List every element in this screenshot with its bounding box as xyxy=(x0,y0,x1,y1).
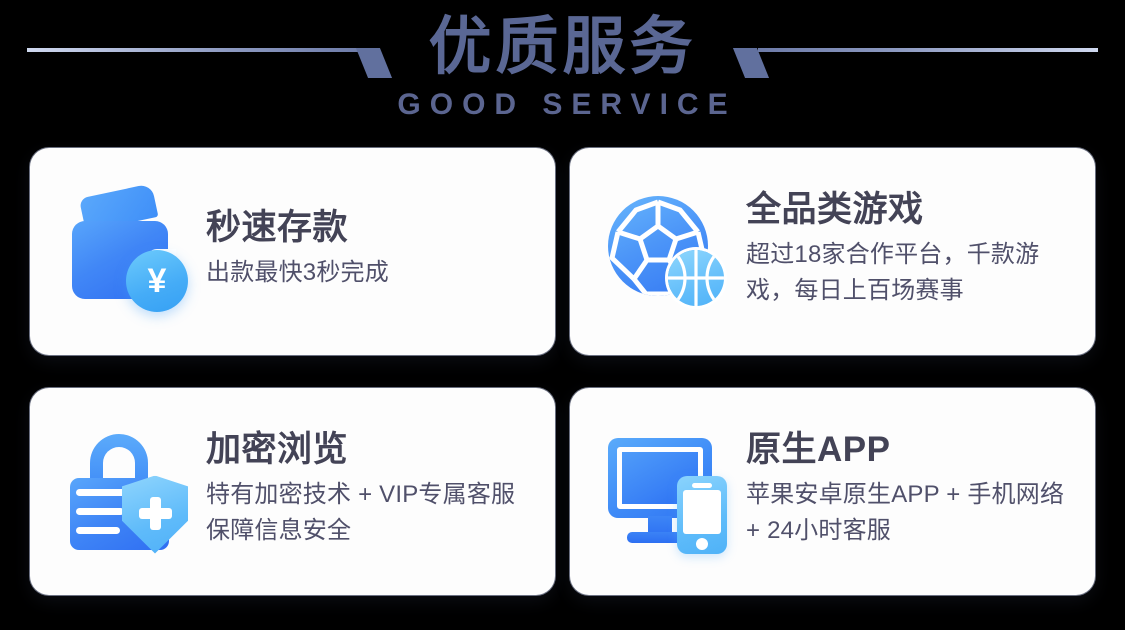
page-title: 优质服务 xyxy=(0,8,1125,86)
card-description: 苹果安卓原生APP + 手机网络 + 24小时客服 xyxy=(746,477,1069,549)
service-card-native-app[interactable]: 原生APP 苹果安卓原生APP + 手机网络 + 24小时客服 xyxy=(570,388,1095,595)
monitor-phone-icon xyxy=(604,428,732,556)
basketball-icon xyxy=(668,250,724,306)
service-card-all-category-games[interactable]: 全品类游戏 超过18家合作平台，千款游戏，每日上百场赛事 xyxy=(570,148,1095,355)
lock-slot-shape xyxy=(76,508,124,515)
phone-speaker-shape xyxy=(692,483,712,488)
basketball-seams-icon xyxy=(668,250,724,306)
header-title-block: 优质服务 GOOD SERVICE xyxy=(0,8,1125,122)
service-card-grid: ¥ 秒速存款 出款最快3秒完成 xyxy=(30,148,1095,595)
phone-home-button-shape xyxy=(696,538,708,550)
service-card-encrypted-browsing[interactable]: 加密浏览 特有加密技术 + VIP专属客服保障信息安全 xyxy=(30,388,555,595)
card-text-block: 全品类游戏 超过18家合作平台，千款游戏，每日上百场赛事 xyxy=(732,188,1069,315)
page-header: 优质服务 GOOD SERVICE xyxy=(0,0,1125,140)
card-description: 出款最快3秒完成 xyxy=(206,255,389,291)
service-card-instant-deposit[interactable]: ¥ 秒速存款 出款最快3秒完成 xyxy=(30,148,555,355)
card-text-block: 加密浏览 特有加密技术 + VIP专属客服保障信息安全 xyxy=(192,428,529,555)
card-text-block: 秒速存款 出款最快3秒完成 xyxy=(192,206,389,297)
shield-cross-icon xyxy=(139,508,172,519)
card-title: 秒速存款 xyxy=(206,206,389,250)
card-description: 超过18家合作平台，千款游戏，每日上百场赛事 xyxy=(746,237,1069,309)
card-description: 特有加密技术 + VIP专属客服保障信息安全 xyxy=(206,477,529,549)
card-title: 加密浏览 xyxy=(206,428,529,472)
card-text-block: 原生APP 苹果安卓原生APP + 手机网络 + 24小时客服 xyxy=(732,428,1069,555)
yuan-coin-icon: ¥ xyxy=(126,250,188,312)
lock-slot-shape xyxy=(76,527,120,534)
page-subtitle: GOOD SERVICE xyxy=(0,88,1125,122)
lock-shield-icon xyxy=(64,428,192,556)
soccer-ball-icon xyxy=(604,188,732,316)
card-title: 全品类游戏 xyxy=(746,188,1069,232)
wallet-icon: ¥ xyxy=(64,188,192,316)
card-title: 原生APP xyxy=(746,428,1069,472)
phone-screen-shape xyxy=(683,490,721,534)
